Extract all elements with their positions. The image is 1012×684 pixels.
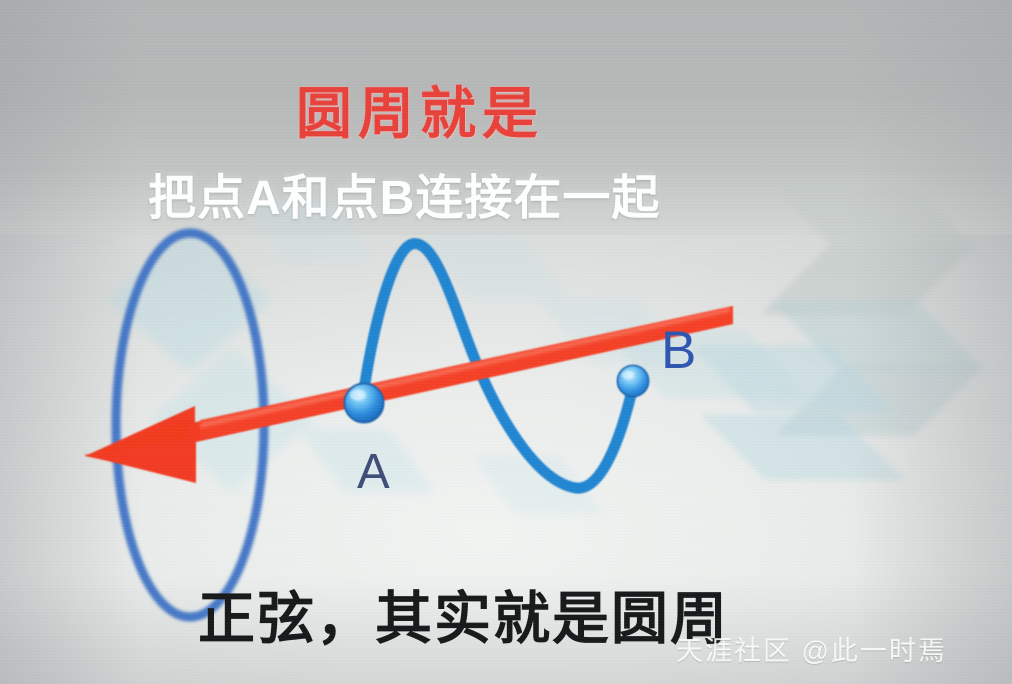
point-a-marker <box>345 384 384 423</box>
point-a-label: A <box>357 444 391 500</box>
caption-text-black: 正弦，其实就是圆周 <box>198 573 729 655</box>
watermark-text: 天涯社区 @此一时焉 <box>676 629 947 668</box>
subtitle-text-white: 把点A和点B连接在一起 <box>148 158 660 228</box>
point-b-label: B <box>661 320 697 381</box>
slide-photo: 圆周就是 把点A和点B连接在一起 A B 正弦，其实就是圆周 天涯社区 @此一时… <box>0 0 1012 684</box>
title-text-red: 圆周就是 <box>296 69 544 150</box>
point-b-marker <box>618 366 649 397</box>
